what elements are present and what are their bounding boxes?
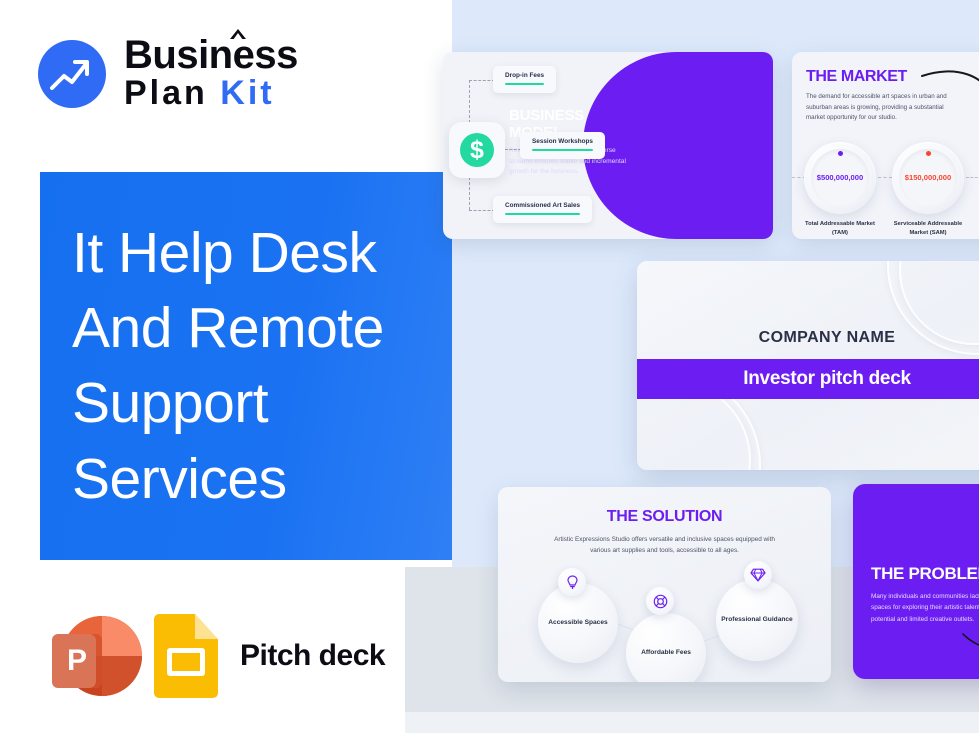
solution-description: Artistic Expressions Studio offers versa… [554, 534, 775, 556]
pitch-deck-label: Pitch deck [240, 639, 385, 673]
growth-arrow-icon [38, 40, 106, 108]
cover-subtitle-band: Investor pitch deck [637, 359, 979, 399]
revenue-stream-item[interactable]: Session Workshops [520, 132, 605, 159]
connector-line [469, 80, 495, 81]
underline-accent [505, 83, 544, 85]
logo-line-primary: Business [124, 36, 298, 74]
revenue-stream-label: Session Workshops [532, 138, 593, 145]
caret-accent-icon [230, 29, 246, 39]
market-metric-dial: $500,000,000 [804, 142, 876, 214]
slide-market[interactable]: THE MARKET The demand for accessible art… [792, 52, 979, 239]
revenue-stream-label: Drop-in Fees [505, 72, 544, 79]
diamond-icon [744, 561, 772, 589]
solution-node-label: Professional Guidance [721, 615, 792, 625]
dial-indicator-dot [926, 151, 931, 156]
google-slides-icon [154, 614, 218, 698]
powerpoint-letter: P [52, 634, 102, 688]
lightbulb-icon [558, 568, 586, 596]
solution-node[interactable]: Accessible Spaces [538, 583, 618, 663]
slide-solution[interactable]: THE SOLUTION Artistic Expressions Studio… [498, 487, 831, 682]
connector-line [469, 210, 495, 211]
curved-arrow-icon [961, 632, 979, 663]
background-grey-panel-lower [405, 712, 979, 733]
logo-word-business: Business [124, 33, 298, 77]
connector-line [878, 177, 892, 178]
logo-word-kit: Kit [220, 74, 274, 112]
slide-business-model[interactable]: BUSINESS MODEL Revenue generation throug… [443, 52, 773, 239]
revenue-stream-label: Commissioned Art Sales [505, 202, 580, 209]
revenue-hub: $ [449, 122, 505, 178]
dollar-icon: $ [460, 133, 494, 167]
problem-title: THE PROBLEM [871, 564, 979, 584]
format-badges: P Pitch deck [40, 610, 385, 702]
page-title: It Help Desk And Remote Support Services [72, 216, 452, 517]
poster-canvas: Business Plan Kit It Help Desk And Remot… [0, 0, 979, 733]
underline-accent [532, 149, 593, 151]
solution-node-label: Affordable Fees [641, 648, 691, 658]
revenue-stream-item[interactable]: Drop-in Fees [493, 66, 556, 93]
market-metric-value: $150,000,000 [892, 173, 964, 182]
solution-node[interactable]: Affordable Fees [626, 613, 706, 682]
lifebuoy-icon [646, 587, 674, 615]
slide-problem[interactable]: THE PROBLEM Many individuals and communi… [853, 484, 979, 679]
cover-subtitle: Investor pitch deck [743, 368, 910, 390]
solution-node-label: Accessible Spaces [548, 618, 607, 628]
solution-node[interactable]: Professional Guidance [716, 579, 798, 661]
solution-title: THE SOLUTION [498, 508, 831, 526]
dial-indicator-dot [838, 151, 843, 156]
logo-word-plan: Plan [124, 74, 208, 112]
slide-cover[interactable]: COMPANY NAME Investor pitch deck [637, 261, 979, 470]
logo-line-secondary: Plan Kit [124, 76, 298, 112]
market-metric-caption: Serviceable Addressable Market (SAM) [885, 220, 971, 237]
market-title: THE MARKET [806, 68, 907, 86]
underline-accent [505, 213, 580, 215]
company-name: COMPANY NAME [637, 329, 979, 347]
market-metric-value: $500,000,000 [804, 173, 876, 182]
problem-description: Many individuals and communities lack ac… [871, 591, 979, 625]
market-metric-dial: $150,000,000 [892, 142, 964, 214]
connector-line [505, 149, 521, 150]
revenue-stream-item[interactable]: Commissioned Art Sales [493, 196, 592, 223]
powerpoint-icon: P [40, 610, 132, 702]
brand-logo: Business Plan Kit [38, 36, 298, 112]
market-description: The demand for accessible art spaces in … [806, 92, 960, 124]
market-metric-caption: Total Addressable Market (TAM) [797, 220, 883, 237]
connector-line [966, 177, 979, 178]
